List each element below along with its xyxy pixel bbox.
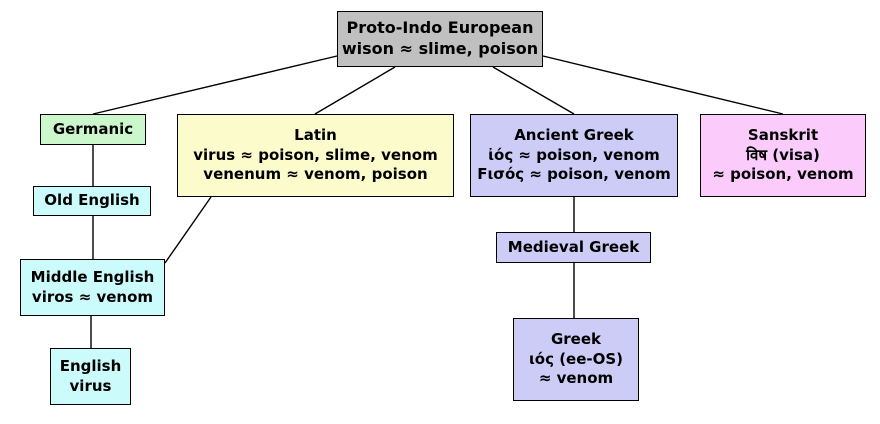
edge-proto-to-sanskrit	[543, 56, 783, 114]
node-ancient-greek-line-2: ἰός ≈ poison, venom	[488, 147, 660, 165]
node-ancient-greek-line-3: Ϝισός ≈ poison, venom	[477, 166, 671, 184]
node-latin-line-3: venenum ≈ venom, poison	[203, 166, 427, 184]
node-greek-line-3: ≈ venom	[539, 370, 613, 388]
edge-proto-to-latin	[315, 67, 395, 114]
node-old-english-line-1: Old English	[44, 192, 139, 210]
node-english: English virus	[50, 348, 131, 405]
node-proto-indo-european-line-2: wison ≈ slime, poison	[342, 40, 538, 59]
node-middle-english-line-1: Middle English	[31, 269, 155, 287]
node-sanskrit-line-2: विष (visa)	[746, 147, 820, 165]
node-english-line-1: English	[60, 358, 122, 376]
node-ancient-greek-line-1: Ancient Greek	[514, 127, 634, 145]
node-medieval-greek-line-1: Medieval Greek	[508, 239, 639, 257]
edge-latin-to-middle-english	[165, 197, 211, 263]
node-latin-line-1: Latin	[294, 127, 337, 145]
node-greek-line-1: Greek	[551, 331, 601, 349]
node-sanskrit: Sanskrit विष (visa) ≈ poison, venom	[700, 114, 866, 197]
node-greek: Greek ιός (ee-OS) ≈ venom	[513, 318, 639, 401]
node-greek-line-2: ιός (ee-OS)	[529, 351, 623, 369]
node-proto-indo-european-line-1: Proto-Indo European	[347, 19, 534, 38]
node-latin: Latin virus ≈ poison, slime, venom venen…	[177, 114, 454, 197]
node-sanskrit-line-1: Sanskrit	[748, 127, 818, 145]
etymology-diagram: Proto-Indo European wison ≈ slime, poiso…	[0, 0, 880, 424]
node-medieval-greek: Medieval Greek	[496, 232, 651, 263]
node-middle-english: Middle English viros ≈ venom	[20, 259, 165, 316]
node-ancient-greek: Ancient Greek ἰός ≈ poison, venom Ϝισός …	[470, 114, 678, 197]
edge-proto-to-germanic	[93, 56, 337, 114]
node-latin-line-2: virus ≈ poison, slime, venom	[193, 147, 437, 165]
node-english-line-2: virus	[70, 378, 112, 396]
node-proto-indo-european: Proto-Indo European wison ≈ slime, poiso…	[337, 11, 543, 67]
node-germanic-line-1: Germanic	[53, 121, 133, 139]
node-sanskrit-line-3: ≈ poison, venom	[712, 166, 853, 184]
node-old-english: Old English	[33, 186, 151, 216]
node-middle-english-line-2: viros ≈ venom	[32, 289, 153, 307]
node-germanic: Germanic	[40, 114, 146, 145]
edge-proto-to-ancient-greek	[493, 67, 574, 114]
